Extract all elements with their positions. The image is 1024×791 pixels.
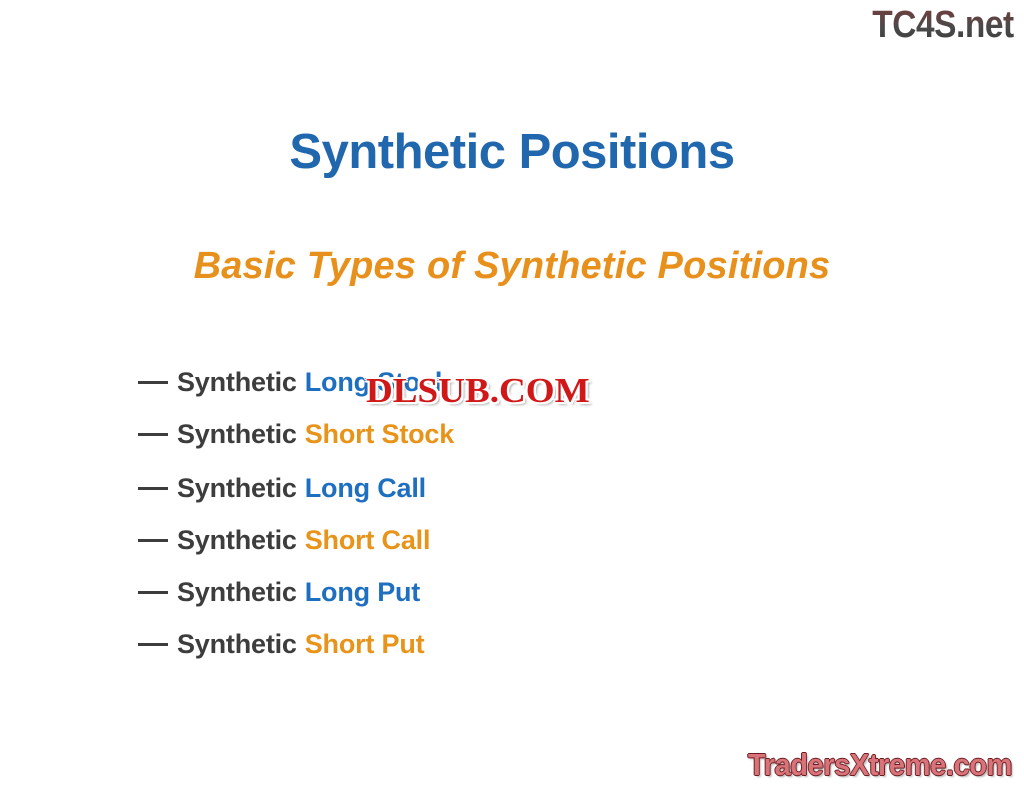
em-dash-icon bbox=[138, 591, 168, 594]
header-brand-logo: TC4S.net bbox=[873, 4, 1014, 47]
list-item-accent-label: Short Stock bbox=[305, 419, 454, 450]
list-item-accent-label: Long Stock bbox=[305, 367, 450, 398]
em-dash-icon bbox=[138, 539, 168, 542]
synthetic-positions-list: Synthetic Long Stock Synthetic Short Sto… bbox=[138, 356, 738, 670]
em-dash-icon bbox=[138, 433, 168, 436]
list-item: Synthetic Long Put bbox=[138, 566, 738, 618]
list-item-accent-label: Long Put bbox=[305, 577, 420, 608]
list-item-accent-label: Long Call bbox=[305, 473, 426, 504]
list-item: Synthetic Long Call bbox=[138, 462, 738, 514]
list-item-base-label: Synthetic bbox=[177, 629, 297, 660]
footer-brand-logo: TradersXtreme.com bbox=[748, 747, 1012, 783]
list-item-base-label: Synthetic bbox=[177, 367, 297, 398]
list-item-base-label: Synthetic bbox=[177, 473, 297, 504]
page-title: Synthetic Positions bbox=[0, 124, 1024, 180]
page-subtitle: Basic Types of Synthetic Positions bbox=[0, 245, 1024, 288]
em-dash-icon bbox=[138, 643, 168, 646]
list-item-base-label: Synthetic bbox=[177, 419, 297, 450]
em-dash-icon bbox=[138, 381, 168, 384]
em-dash-icon bbox=[138, 487, 168, 490]
list-item: Synthetic Long Stock bbox=[138, 356, 738, 408]
list-item: Synthetic Short Call bbox=[138, 514, 738, 566]
list-item: Synthetic Short Stock bbox=[138, 408, 738, 460]
list-item-base-label: Synthetic bbox=[177, 525, 297, 556]
list-item: Synthetic Short Put bbox=[138, 618, 738, 670]
list-item-base-label: Synthetic bbox=[177, 577, 297, 608]
list-item-accent-label: Short Call bbox=[305, 525, 431, 556]
slide-canvas: TC4S.net Synthetic Positions Basic Types… bbox=[0, 0, 1024, 791]
list-item-accent-label: Short Put bbox=[305, 629, 425, 660]
